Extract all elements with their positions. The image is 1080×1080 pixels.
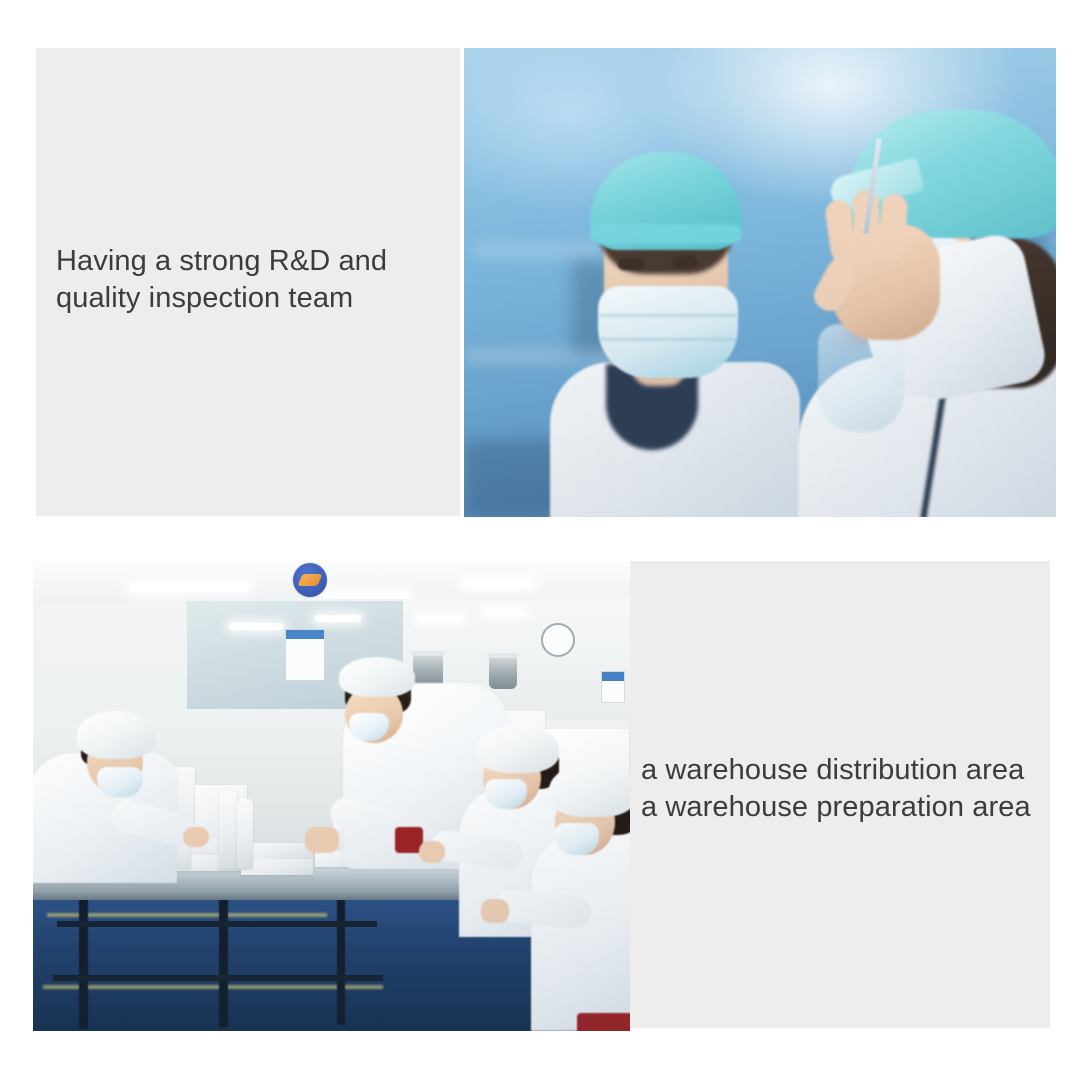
lab-quality-inspection-photo (464, 48, 1056, 517)
notice-band (286, 630, 324, 639)
carton-8 (243, 843, 313, 859)
ceiling-light-3 (463, 579, 533, 588)
floor-stripe-1 (47, 913, 327, 917)
warehouse-packing-photo (33, 561, 630, 1031)
notice-band (602, 672, 624, 681)
ceiling-light-1 (129, 583, 249, 592)
hairnet-rim (590, 224, 742, 244)
face-mask (97, 767, 143, 797)
white-hairnet (77, 711, 155, 759)
bottle-cluster-2 (237, 799, 253, 869)
table-leg-3 (337, 897, 345, 1025)
white-hairnet (549, 763, 630, 817)
window-light-1 (229, 623, 283, 630)
technician-front (554, 106, 804, 517)
face-mask (598, 286, 738, 378)
floor-stripe-2 (43, 985, 383, 989)
eye-left (618, 258, 644, 270)
mask-fold-2 (600, 338, 736, 341)
hand (481, 899, 509, 923)
bottom-caption-line-2: a warehouse preparation area (641, 791, 1031, 823)
hand (419, 841, 445, 863)
bottle-cluster (219, 791, 237, 869)
table-leg-2 (219, 897, 228, 1027)
table-rail-lower (53, 975, 383, 981)
wall-light-2 (485, 609, 525, 616)
mask-fold-1 (600, 314, 736, 317)
eye-right (672, 256, 698, 268)
steel-pot-lid-1 (411, 651, 445, 656)
bottom-caption-line-1: a warehouse distribution area (641, 754, 1024, 786)
table-leg-1 (79, 897, 88, 1029)
wall-notice-right (601, 671, 625, 703)
gloved-hand-with-flask (774, 138, 994, 438)
blue-circular-sign (293, 563, 327, 597)
hand (183, 827, 209, 847)
white-coat (531, 831, 630, 1031)
worker-right (521, 731, 630, 1031)
wall-notice-board (285, 629, 325, 681)
top-caption: Having a strong R&D and quality inspecti… (56, 243, 387, 317)
glass-flask (818, 324, 904, 432)
top-caption-line-1: Having a strong R&D and (56, 245, 387, 277)
face-mask (555, 823, 599, 855)
finger-3 (878, 193, 909, 261)
bottom-caption: a warehouse distribution area a warehous… (641, 752, 1031, 826)
worker-left (33, 681, 183, 881)
wall-light-1 (417, 615, 463, 622)
white-hairnet (339, 657, 415, 697)
red-item (577, 1013, 630, 1031)
wall-clock-main (541, 623, 575, 657)
top-caption-line-2: quality inspection team (56, 282, 353, 314)
hand (305, 827, 339, 853)
window-light-2 (315, 615, 361, 622)
table-rail-upper (57, 921, 377, 927)
